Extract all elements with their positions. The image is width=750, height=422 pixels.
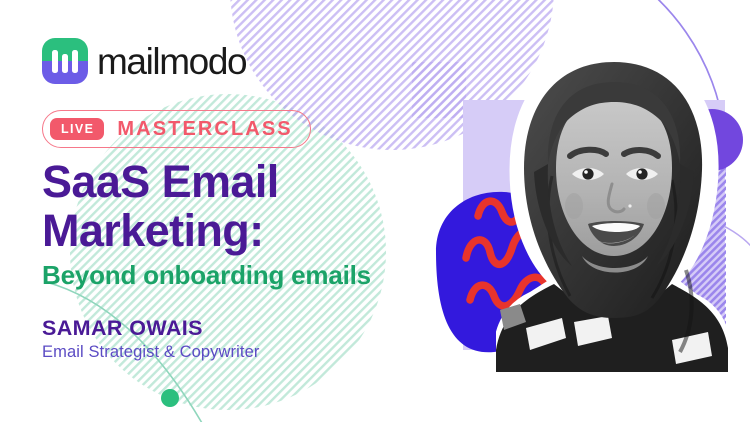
- mailmodo-logo-icon: [42, 38, 88, 84]
- cheek-shadow-right: [647, 193, 665, 219]
- nose-stud: [628, 204, 631, 207]
- page-title: SaaS Email Marketing:: [42, 158, 442, 255]
- speaker-name: SAMAR OWAIS: [42, 318, 203, 340]
- speaker-role: Email Strategist & Copywriter: [42, 344, 259, 361]
- brand-logo[interactable]: mailmodo: [42, 38, 246, 84]
- logo-icon-bar-left: [52, 50, 58, 73]
- green-dot: [161, 389, 179, 407]
- eye-highlight-left: [584, 170, 588, 174]
- live-masterclass-badge: LIVE MASTERCLASS: [42, 110, 311, 148]
- page-subtitle: Beyond onboarding emails: [42, 262, 371, 288]
- masterclass-banner: mailmodo LIVE MASTERCLASS SaaS Email Mar…: [0, 0, 750, 422]
- speaker-portrait-illustration: [496, 60, 728, 372]
- speaker-photo: [496, 60, 728, 372]
- eye-highlight-right: [638, 170, 642, 174]
- purple-striped-wedge: [412, 62, 466, 118]
- pupil-left: [582, 168, 593, 179]
- live-badge-pill: LIVE: [50, 118, 104, 141]
- brand-wordmark: mailmodo: [97, 43, 246, 80]
- masterclass-label: MASTERCLASS: [117, 119, 292, 139]
- pupil-right: [636, 168, 647, 179]
- logo-icon-bar-right: [72, 50, 78, 73]
- headline-line-2: Marketing:: [42, 207, 442, 256]
- logo-icon-bar-middle: [62, 54, 68, 73]
- headline-line-1: SaaS Email: [42, 158, 442, 207]
- cheek-shadow-left: [565, 193, 583, 219]
